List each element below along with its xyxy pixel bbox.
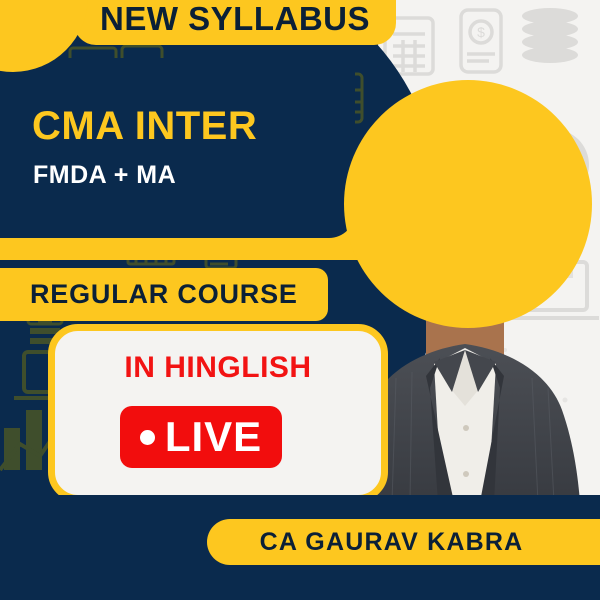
- faculty-name-bar: CA GAURAV KABRA: [207, 519, 600, 565]
- course-promo-poster: $ ?: [0, 0, 600, 600]
- yellow-disc-backdrop: [344, 80, 592, 328]
- language-label: IN HINGLISH: [55, 353, 381, 383]
- course-title-panel: CMA INTER FMDA + MA: [0, 58, 355, 238]
- course-subjects: FMDA + MA: [33, 163, 176, 188]
- coins-stack-icon: [522, 8, 578, 63]
- faculty-name: CA GAURAV KABRA: [260, 530, 548, 555]
- new-syllabus-badge: NEW SYLLABUS: [74, 0, 396, 45]
- live-badge: LIVE: [120, 406, 282, 468]
- live-dot-icon: [140, 430, 155, 445]
- live-label: LIVE: [165, 416, 262, 458]
- course-type-badge: REGULAR COURSE: [0, 268, 328, 321]
- language-live-card: IN HINGLISH LIVE: [48, 324, 388, 502]
- page-title: CMA INTER: [32, 106, 257, 146]
- svg-text:$: $: [477, 24, 485, 40]
